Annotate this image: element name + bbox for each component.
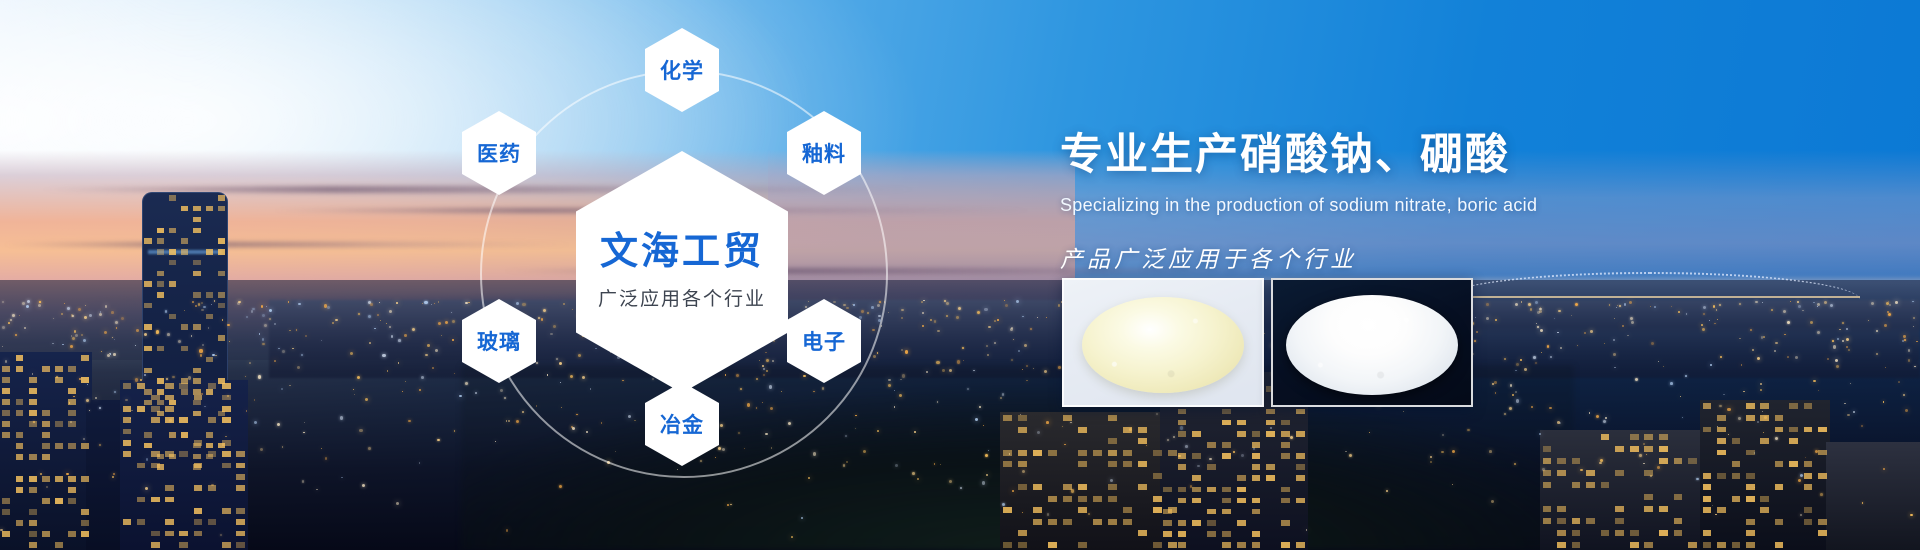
window-light	[1775, 542, 1784, 548]
window-light	[1760, 415, 1769, 421]
window-light	[68, 476, 76, 482]
window-light	[1237, 498, 1246, 504]
window-light	[222, 440, 231, 446]
window-light	[236, 463, 245, 469]
window-light	[193, 217, 200, 222]
window-light	[1703, 507, 1712, 513]
window-light	[1717, 450, 1726, 456]
window-light	[2, 388, 10, 394]
window-light	[1033, 450, 1042, 456]
window-light	[1266, 464, 1275, 470]
hex-node-label: 电子	[802, 326, 846, 356]
window-light	[1586, 482, 1595, 488]
window-light	[1003, 542, 1012, 548]
window-light	[222, 383, 231, 389]
window-light	[1063, 484, 1072, 490]
window-light	[16, 487, 24, 493]
window-light	[2, 377, 10, 383]
brand-tagline: 广泛应用各个行业	[598, 284, 766, 311]
window-light	[1033, 484, 1042, 490]
window-light	[55, 377, 63, 383]
window-light	[1746, 473, 1755, 479]
window-light	[81, 531, 89, 537]
window-light	[1296, 431, 1305, 437]
window-light	[1222, 409, 1231, 415]
window-light	[2, 366, 10, 372]
window-light	[151, 417, 160, 423]
window-light	[16, 410, 24, 416]
window-light	[55, 421, 63, 427]
window-light	[181, 238, 188, 243]
window-light	[1163, 509, 1172, 515]
window-light	[169, 260, 176, 265]
window-light	[1746, 403, 1755, 409]
window-light	[1063, 496, 1072, 502]
window-light	[1659, 530, 1668, 536]
slogan-text: 产品广泛应用于各个行业	[1060, 240, 1820, 274]
window-light	[1281, 442, 1290, 448]
window-light	[1178, 487, 1187, 493]
window-light	[144, 346, 151, 351]
window-light	[1123, 450, 1132, 456]
window-light	[1775, 415, 1784, 421]
window-light	[137, 383, 146, 389]
window-light	[151, 463, 160, 469]
window-light	[206, 249, 213, 254]
window-light	[1644, 434, 1653, 440]
window-light	[169, 400, 176, 405]
window-light	[68, 487, 76, 493]
window-light	[1222, 531, 1231, 537]
window-light	[222, 406, 231, 412]
window-light	[1543, 446, 1552, 452]
window-light	[165, 417, 174, 423]
window-light	[206, 432, 213, 437]
window-light	[144, 324, 151, 329]
window-light	[1804, 507, 1813, 513]
window-light	[55, 443, 63, 449]
window-light	[1108, 438, 1117, 444]
window-light	[222, 395, 231, 401]
window-light	[1732, 473, 1741, 479]
window-light	[1207, 531, 1216, 537]
window-light	[68, 410, 76, 416]
window-light	[165, 395, 174, 401]
window-light	[123, 451, 132, 457]
window-light	[218, 271, 225, 276]
window-light	[236, 542, 245, 548]
window-light	[222, 463, 231, 469]
window-light	[1153, 473, 1162, 479]
window-light	[222, 451, 231, 457]
window-light	[2, 531, 10, 537]
window-light	[1746, 542, 1755, 548]
window-light	[1732, 438, 1741, 444]
window-light	[1237, 431, 1246, 437]
window-light	[193, 411, 200, 416]
window-light	[1018, 427, 1027, 433]
window-light	[16, 454, 24, 460]
window-light	[68, 399, 76, 405]
window-light	[29, 476, 37, 482]
window-light	[1078, 484, 1087, 490]
window-light	[1048, 519, 1057, 525]
window-light	[1178, 409, 1187, 415]
window-light	[1789, 427, 1798, 433]
window-light	[1108, 484, 1117, 490]
window-light	[1281, 420, 1290, 426]
window-light	[29, 542, 37, 548]
window-light	[29, 509, 37, 515]
window-light	[1717, 507, 1726, 513]
window-light	[16, 476, 24, 482]
window-light	[55, 498, 63, 504]
window-light	[1018, 530, 1027, 536]
hex-node-label: 玻璃	[477, 326, 521, 356]
window-light	[1078, 427, 1087, 433]
window-light	[1252, 431, 1261, 437]
window-light	[1237, 487, 1246, 493]
window-light	[1659, 458, 1668, 464]
window-light	[1557, 542, 1566, 548]
window-light	[157, 271, 164, 276]
hex-node-label: 化学	[660, 55, 704, 85]
window-light	[1252, 475, 1261, 481]
window-light	[1033, 507, 1042, 513]
window-light	[193, 292, 200, 297]
window-light	[1644, 542, 1653, 548]
window-light	[1296, 409, 1305, 415]
window-light	[1296, 475, 1305, 481]
window-light	[29, 410, 37, 416]
window-light	[1207, 464, 1216, 470]
window-light	[169, 314, 176, 319]
window-light	[144, 238, 151, 243]
window-light	[1237, 542, 1246, 548]
window-light	[1732, 542, 1741, 548]
window-light	[1746, 496, 1755, 502]
window-light	[218, 195, 225, 200]
window-light	[16, 432, 24, 438]
window-light	[165, 497, 174, 503]
window-light	[81, 509, 89, 515]
window-light	[1168, 450, 1177, 456]
window-light	[1018, 415, 1027, 421]
window-light	[1078, 496, 1087, 502]
window-light	[137, 463, 146, 469]
window-light	[1178, 531, 1187, 537]
window-light	[1615, 446, 1624, 452]
window-light	[1543, 506, 1552, 512]
window-light	[206, 206, 213, 211]
window-light	[1178, 431, 1187, 437]
window-light	[1775, 427, 1784, 433]
window-light	[194, 519, 203, 525]
window-light	[1222, 498, 1231, 504]
window-light	[1543, 458, 1552, 464]
window-light	[1163, 520, 1172, 526]
window-light	[1192, 487, 1201, 493]
window-light	[157, 346, 164, 351]
window-light	[1123, 461, 1132, 467]
window-light	[42, 443, 50, 449]
window-light	[169, 281, 176, 286]
window-light	[181, 389, 188, 394]
window-light	[1572, 530, 1581, 536]
window-light	[123, 417, 132, 423]
window-light	[151, 497, 160, 503]
window-light	[29, 388, 37, 394]
window-light	[1138, 427, 1147, 433]
window-light	[165, 485, 174, 491]
window-light	[1078, 461, 1087, 467]
window-light	[42, 421, 50, 427]
window-light	[1746, 415, 1755, 421]
window-light	[181, 206, 188, 211]
window-light	[1674, 518, 1683, 524]
window-light	[29, 399, 37, 405]
window-light	[1746, 519, 1755, 525]
hex-node-label: 釉料	[802, 138, 846, 168]
window-light	[1281, 520, 1290, 526]
window-light	[1674, 458, 1683, 464]
window-light	[1108, 496, 1117, 502]
window-light	[144, 443, 151, 448]
window-light	[1557, 506, 1566, 512]
window-light	[157, 292, 164, 297]
window-light	[194, 485, 203, 491]
window-light	[1543, 470, 1552, 476]
window-light	[1178, 453, 1187, 459]
window-light	[2, 399, 10, 405]
window-light	[165, 383, 174, 389]
window-light	[42, 498, 50, 504]
window-light	[55, 476, 63, 482]
window-light	[144, 389, 151, 394]
window-light	[1615, 518, 1624, 524]
window-light	[1703, 542, 1712, 548]
window-light	[81, 377, 89, 383]
window-light	[1775, 519, 1784, 525]
window-light	[1659, 446, 1668, 452]
window-light	[1192, 453, 1201, 459]
window-light	[29, 531, 37, 537]
hex-node-label: 医药	[477, 138, 521, 168]
window-light	[218, 303, 225, 308]
window-light	[1266, 409, 1275, 415]
window-light	[1703, 427, 1712, 433]
window-light	[1018, 542, 1027, 548]
window-light	[1630, 530, 1639, 536]
window-light	[16, 399, 24, 405]
window-light	[1601, 482, 1610, 488]
window-light	[1746, 484, 1755, 490]
window-light	[1586, 470, 1595, 476]
window-light	[42, 410, 50, 416]
window-light	[1586, 518, 1595, 524]
window-light	[1775, 461, 1784, 467]
window-light	[2, 421, 10, 427]
window-light	[218, 206, 225, 211]
page-title: 专业生产硝酸钠、硼酸	[1060, 120, 1820, 182]
window-light	[1153, 542, 1162, 548]
window-light	[208, 451, 217, 457]
window-light	[1192, 431, 1201, 437]
window-light	[1093, 496, 1102, 502]
window-light	[42, 366, 50, 372]
window-light	[1003, 450, 1012, 456]
window-light	[1557, 530, 1566, 536]
window-light	[29, 454, 37, 460]
window-light	[1266, 431, 1275, 437]
window-light	[157, 238, 164, 243]
window-light	[16, 520, 24, 526]
window-light	[157, 400, 164, 405]
window-light	[1601, 434, 1610, 440]
window-light	[1630, 446, 1639, 452]
window-light	[1033, 519, 1042, 525]
window-light	[16, 355, 24, 361]
product-photo-gallery	[1062, 278, 1473, 407]
window-light	[1804, 484, 1813, 490]
window-light	[1601, 530, 1610, 536]
window-light	[169, 249, 176, 254]
window-light	[1093, 450, 1102, 456]
window-light	[193, 400, 200, 405]
window-light	[151, 451, 160, 457]
window-light	[1108, 450, 1117, 456]
window-light	[236, 531, 245, 537]
window-light	[1281, 431, 1290, 437]
window-light	[1644, 506, 1653, 512]
window-light	[179, 383, 188, 389]
window-light	[193, 324, 200, 329]
window-light	[16, 366, 24, 372]
window-light	[194, 395, 203, 401]
window-light	[123, 406, 132, 412]
window-light	[1804, 403, 1813, 409]
window-light	[1192, 498, 1201, 504]
window-light	[1093, 519, 1102, 525]
window-light	[194, 508, 203, 514]
window-light	[208, 383, 217, 389]
window-light	[1123, 507, 1132, 513]
window-light	[1818, 450, 1827, 456]
window-light	[1163, 531, 1172, 537]
window-light	[157, 228, 164, 233]
window-light	[1703, 530, 1712, 536]
window-light	[1746, 450, 1755, 456]
window-light	[157, 389, 164, 394]
window-light	[1281, 498, 1290, 504]
window-light	[29, 377, 37, 383]
window-light	[29, 487, 37, 493]
window-light	[181, 432, 188, 437]
window-light	[1108, 461, 1117, 467]
window-light	[206, 357, 213, 362]
window-light	[179, 542, 188, 548]
window-light	[1222, 487, 1231, 493]
window-light	[165, 406, 174, 412]
window-light	[169, 228, 176, 233]
window-light	[1078, 542, 1087, 548]
window-light	[1644, 470, 1653, 476]
window-light	[1153, 450, 1162, 456]
window-light	[1168, 542, 1177, 548]
window-light	[1703, 484, 1712, 490]
window-light	[42, 432, 50, 438]
window-light	[151, 395, 160, 401]
window-light	[55, 366, 63, 372]
window-light	[165, 451, 174, 457]
window-light	[1252, 542, 1261, 548]
window-light	[1659, 506, 1668, 512]
window-light	[151, 531, 160, 537]
window-light	[1674, 494, 1683, 500]
window-light	[1630, 434, 1639, 440]
window-light	[1078, 450, 1087, 456]
window-light	[1207, 487, 1216, 493]
window-light	[1688, 542, 1697, 548]
window-light	[1572, 482, 1581, 488]
window-light	[1138, 461, 1147, 467]
window-light	[2, 410, 10, 416]
window-light	[2, 432, 10, 438]
window-light	[1818, 519, 1827, 525]
window-light	[1078, 507, 1087, 513]
window-light	[1108, 519, 1117, 525]
window-light	[1804, 427, 1813, 433]
window-light	[1644, 446, 1653, 452]
window-light	[236, 485, 245, 491]
window-light	[81, 355, 89, 361]
product-photo-sodium-nitrate[interactable]	[1062, 278, 1264, 407]
powder-pile	[1286, 295, 1458, 395]
window-light	[29, 520, 37, 526]
window-light	[81, 476, 89, 482]
window-light	[1252, 531, 1261, 537]
window-light	[1760, 507, 1769, 513]
window-light	[218, 238, 225, 243]
window-light	[1222, 542, 1231, 548]
window-light	[1222, 509, 1231, 515]
window-light	[123, 519, 132, 525]
window-light	[218, 292, 225, 297]
window-light	[1760, 496, 1769, 502]
window-light	[181, 346, 188, 351]
window-light	[1003, 461, 1012, 467]
window-light	[1222, 442, 1231, 448]
window-light	[81, 520, 89, 526]
window-light	[1063, 519, 1072, 525]
window-light	[1557, 458, 1566, 464]
window-light	[1572, 458, 1581, 464]
window-light	[193, 368, 200, 373]
window-light	[1717, 415, 1726, 421]
window-light	[123, 429, 132, 435]
window-light	[1789, 438, 1798, 444]
window-light	[1296, 498, 1305, 504]
product-photo-boric-acid[interactable]	[1271, 278, 1473, 407]
window-light	[181, 324, 188, 329]
window-light	[1760, 403, 1769, 409]
window-light	[1296, 453, 1305, 459]
window-light	[169, 195, 176, 200]
window-light	[2, 498, 10, 504]
window-light	[1178, 498, 1187, 504]
window-light	[193, 228, 200, 233]
window-light	[1192, 475, 1201, 481]
